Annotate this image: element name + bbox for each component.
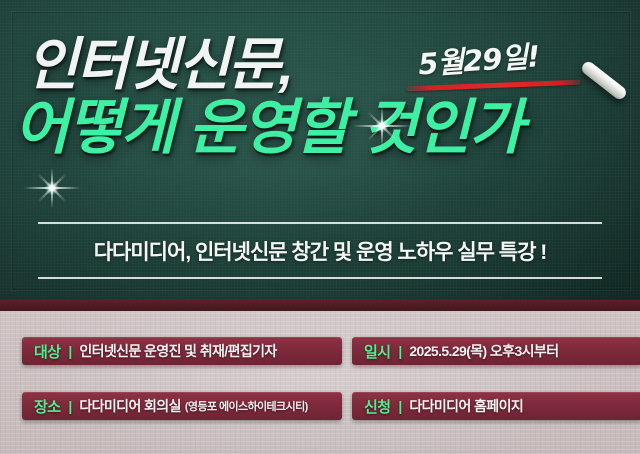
- info-value: 다다미디어 회의실: [79, 396, 181, 416]
- info-row-venue: 장소 | 다다미디어 회의실 (영등포 에이스하이테크시티): [22, 392, 342, 420]
- info-label: 일시: [364, 341, 390, 362]
- info-label: 신청: [364, 396, 390, 417]
- chalkboard-background: [0, 0, 640, 300]
- section-divider: [0, 300, 640, 311]
- info-panel-background: [0, 311, 640, 454]
- info-label: 대상: [34, 341, 60, 362]
- info-separator: |: [398, 398, 402, 414]
- info-value-detail: (영등포 에이스하이테크시티): [185, 398, 308, 414]
- info-label: 장소: [34, 396, 60, 417]
- info-value: 다다미디어 홈페이지: [409, 396, 523, 416]
- info-row-target: 대상 | 인터넷신문 운영진 및 취재/편집기자: [22, 337, 342, 365]
- info-value: 2025.5.29(목) 오후3시부터: [409, 341, 558, 361]
- info-separator: |: [398, 343, 402, 359]
- info-row-apply: 신청 | 다다미디어 홈페이지: [352, 392, 640, 420]
- info-separator: |: [68, 398, 72, 414]
- seminar-promo-banner: 인터넷신문, 어떻게 운영할 것인가 5월29일! 다다미디어, 인터넷신문 창…: [0, 0, 640, 454]
- info-separator: |: [68, 343, 72, 359]
- info-row-datetime: 일시 | 2025.5.29(목) 오후3시부터: [352, 337, 640, 365]
- info-value: 인터넷신문 운영진 및 취재/편집기자: [79, 341, 276, 361]
